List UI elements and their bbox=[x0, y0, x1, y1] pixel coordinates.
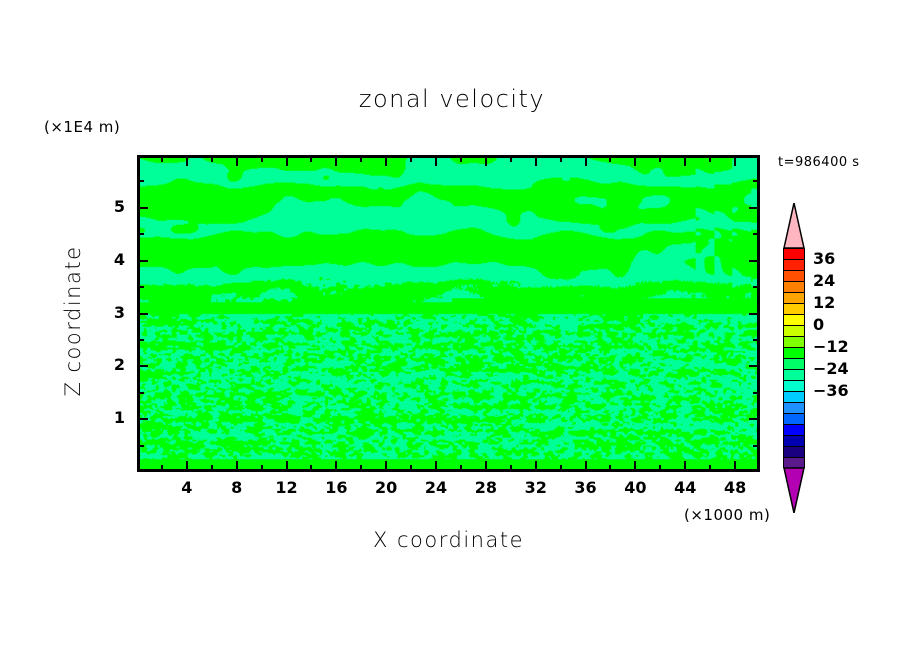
y-tick-mark bbox=[749, 313, 758, 315]
x-tick-mark bbox=[535, 157, 537, 166]
x-tick-label: 40 bbox=[615, 478, 655, 497]
colorbar-band bbox=[784, 315, 804, 326]
x-tick-mark bbox=[510, 465, 512, 470]
x-tick-label: 16 bbox=[316, 478, 356, 497]
x-tick-mark bbox=[161, 157, 163, 162]
x-tick-mark bbox=[684, 461, 686, 470]
colorbar-band bbox=[784, 425, 804, 436]
colorbar-band bbox=[784, 282, 804, 293]
x-tick-mark bbox=[286, 157, 288, 166]
colorbar-band bbox=[784, 436, 804, 447]
x-tick-label: 8 bbox=[217, 478, 257, 497]
y-tick-mark bbox=[139, 260, 148, 262]
x-tick-label: 20 bbox=[366, 478, 406, 497]
colorbar-tick-label: −36 bbox=[813, 381, 849, 400]
colorbar-tick-label: −12 bbox=[813, 337, 849, 356]
x-tick-mark bbox=[609, 157, 611, 162]
x-tick-mark bbox=[335, 461, 337, 470]
colorbar-band bbox=[784, 304, 804, 315]
x-tick-mark bbox=[310, 157, 312, 162]
y-tick-label: 1 bbox=[95, 408, 125, 427]
y-tick-mark bbox=[749, 418, 758, 420]
y-tick-mark bbox=[749, 365, 758, 367]
x-tick-mark bbox=[560, 465, 562, 470]
colorbar-tick-label: 36 bbox=[813, 249, 835, 268]
y-tick-label: 3 bbox=[95, 303, 125, 322]
x-tick-mark bbox=[410, 465, 412, 470]
y-tick-mark bbox=[139, 445, 144, 447]
y-tick-mark bbox=[139, 339, 144, 341]
timestamp-annotation: t=986400 s bbox=[778, 155, 860, 170]
x-tick-mark bbox=[410, 157, 412, 162]
x-axis-unit-label: (×1000 m) bbox=[684, 506, 770, 524]
colorbar-band bbox=[784, 348, 804, 359]
x-tick-mark bbox=[684, 157, 686, 166]
colorbar-band bbox=[784, 293, 804, 304]
x-tick-mark bbox=[236, 157, 238, 166]
x-tick-mark bbox=[634, 461, 636, 470]
y-axis-unit-label: (×1E4 m) bbox=[44, 118, 120, 136]
x-tick-label: 28 bbox=[466, 478, 506, 497]
x-tick-mark bbox=[310, 465, 312, 470]
x-tick-mark bbox=[335, 157, 337, 166]
x-tick-mark bbox=[585, 157, 587, 166]
x-tick-mark bbox=[585, 461, 587, 470]
colorbar-band bbox=[784, 414, 804, 425]
x-tick-mark bbox=[560, 157, 562, 162]
x-tick-mark bbox=[734, 157, 736, 166]
y-tick-mark bbox=[139, 207, 148, 209]
y-tick-mark bbox=[753, 180, 758, 182]
x-tick-label: 4 bbox=[167, 478, 207, 497]
x-tick-mark bbox=[510, 157, 512, 162]
colorbar-top-arrow-icon bbox=[783, 203, 805, 249]
x-tick-mark bbox=[609, 465, 611, 470]
x-tick-mark bbox=[460, 465, 462, 470]
y-tick-mark bbox=[753, 392, 758, 394]
x-tick-mark bbox=[186, 461, 188, 470]
x-tick-mark bbox=[535, 461, 537, 470]
x-tick-mark bbox=[435, 461, 437, 470]
colorbar-band bbox=[784, 249, 804, 260]
x-tick-mark bbox=[385, 157, 387, 166]
y-axis-title: Z coordinate bbox=[61, 221, 85, 421]
x-tick-label: 44 bbox=[665, 478, 705, 497]
x-tick-mark bbox=[485, 157, 487, 166]
x-tick-mark bbox=[211, 465, 213, 470]
y-tick-mark bbox=[139, 418, 148, 420]
colorbar-band bbox=[784, 403, 804, 414]
x-tick-mark bbox=[261, 465, 263, 470]
x-tick-label: 12 bbox=[267, 478, 307, 497]
y-tick-label: 4 bbox=[95, 250, 125, 269]
x-tick-mark bbox=[360, 157, 362, 162]
x-tick-mark bbox=[634, 157, 636, 166]
y-tick-mark bbox=[139, 365, 148, 367]
x-tick-mark bbox=[435, 157, 437, 166]
colorbar-band bbox=[784, 271, 804, 282]
x-tick-label: 48 bbox=[715, 478, 755, 497]
x-tick-mark bbox=[485, 461, 487, 470]
x-tick-mark bbox=[385, 461, 387, 470]
x-tick-label: 36 bbox=[566, 478, 606, 497]
colorbar-band bbox=[784, 260, 804, 271]
y-tick-mark bbox=[749, 260, 758, 262]
y-tick-mark bbox=[753, 286, 758, 288]
velocity-field-canvas bbox=[140, 158, 757, 469]
colorbar-band bbox=[784, 359, 804, 370]
y-tick-label: 5 bbox=[95, 197, 125, 216]
x-tick-mark bbox=[659, 465, 661, 470]
chart-title: zonal velocity bbox=[0, 85, 904, 113]
colorbar-band bbox=[784, 381, 804, 392]
colorbar-band bbox=[784, 370, 804, 381]
x-tick-mark bbox=[659, 157, 661, 162]
chart-canvas: zonal velocity (×1E4 m) t=986400 s 48121… bbox=[0, 0, 904, 654]
colorbar-band bbox=[784, 447, 804, 458]
y-tick-mark bbox=[139, 392, 144, 394]
x-tick-mark bbox=[709, 465, 711, 470]
colorbar-tick-label: 0 bbox=[813, 315, 824, 334]
x-tick-label: 24 bbox=[416, 478, 456, 497]
x-tick-mark bbox=[734, 461, 736, 470]
colorbar-band bbox=[784, 337, 804, 348]
x-tick-mark bbox=[709, 157, 711, 162]
y-tick-mark bbox=[139, 233, 144, 235]
x-tick-mark bbox=[286, 461, 288, 470]
colorbar-bands bbox=[783, 248, 805, 468]
y-tick-mark bbox=[139, 286, 144, 288]
y-tick-mark bbox=[753, 445, 758, 447]
x-tick-label: 32 bbox=[516, 478, 556, 497]
x-tick-mark bbox=[236, 461, 238, 470]
colorbar-tick-label: 12 bbox=[813, 293, 835, 312]
colorbar-band bbox=[784, 326, 804, 337]
y-tick-mark bbox=[753, 339, 758, 341]
y-tick-mark bbox=[753, 233, 758, 235]
x-tick-mark bbox=[460, 157, 462, 162]
y-tick-mark bbox=[749, 207, 758, 209]
x-axis-title: X coordinate bbox=[137, 528, 760, 552]
plot-area bbox=[137, 155, 760, 472]
x-tick-mark bbox=[211, 157, 213, 162]
colorbar-tick-label: 24 bbox=[813, 271, 835, 290]
y-tick-label: 2 bbox=[95, 355, 125, 374]
colorbar: 3624120−12−24−36 bbox=[783, 203, 805, 513]
colorbar-tick-label: −24 bbox=[813, 359, 849, 378]
y-tick-mark bbox=[139, 313, 148, 315]
x-tick-mark bbox=[261, 157, 263, 162]
x-tick-mark bbox=[360, 465, 362, 470]
y-tick-mark bbox=[139, 180, 144, 182]
colorbar-bottom-arrow-icon bbox=[783, 467, 805, 513]
colorbar-band bbox=[784, 392, 804, 403]
x-tick-mark bbox=[186, 157, 188, 166]
x-tick-mark bbox=[161, 465, 163, 470]
